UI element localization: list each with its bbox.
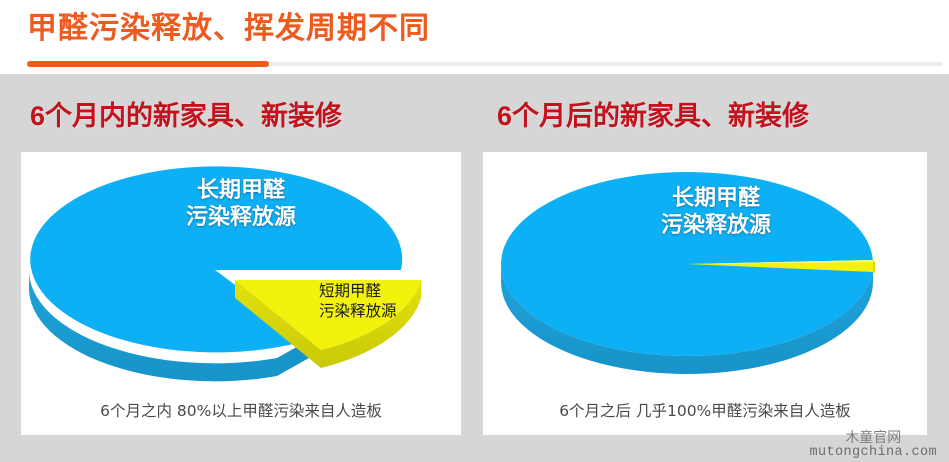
content-area: 6个月内的新家具、新装修 bbox=[0, 74, 949, 462]
chart-panel-right: 长期甲醛 污染释放源 6个月之后 几乎100%甲醛污染来自人造板 bbox=[483, 152, 927, 435]
page-title: 甲醛污染释放、挥发周期不同 bbox=[27, 8, 430, 50]
chart-panel-left: 长期甲醛 污染释放源 短期甲醛 污染释放源 6个月之内 80%以上甲醛污染来自人… bbox=[21, 152, 461, 435]
chart-caption-left: 6个月之内 80%以上甲醛污染来自人造板 bbox=[21, 399, 461, 421]
title-underline-accent bbox=[27, 61, 269, 67]
column-heading-right: 6个月后的新家具、新装修 bbox=[497, 94, 809, 133]
column-heading-left: 6个月内的新家具、新装修 bbox=[30, 94, 342, 133]
pie-chart-right: 长期甲醛 污染释放源 bbox=[483, 152, 927, 382]
chart-caption-right: 6个月之后 几乎100%甲醛污染来自人造板 bbox=[483, 399, 927, 421]
header-band: 甲醛污染释放、挥发周期不同 bbox=[0, 0, 949, 74]
pie-chart-left: 长期甲醛 污染释放源 短期甲醛 污染释放源 bbox=[21, 152, 461, 382]
